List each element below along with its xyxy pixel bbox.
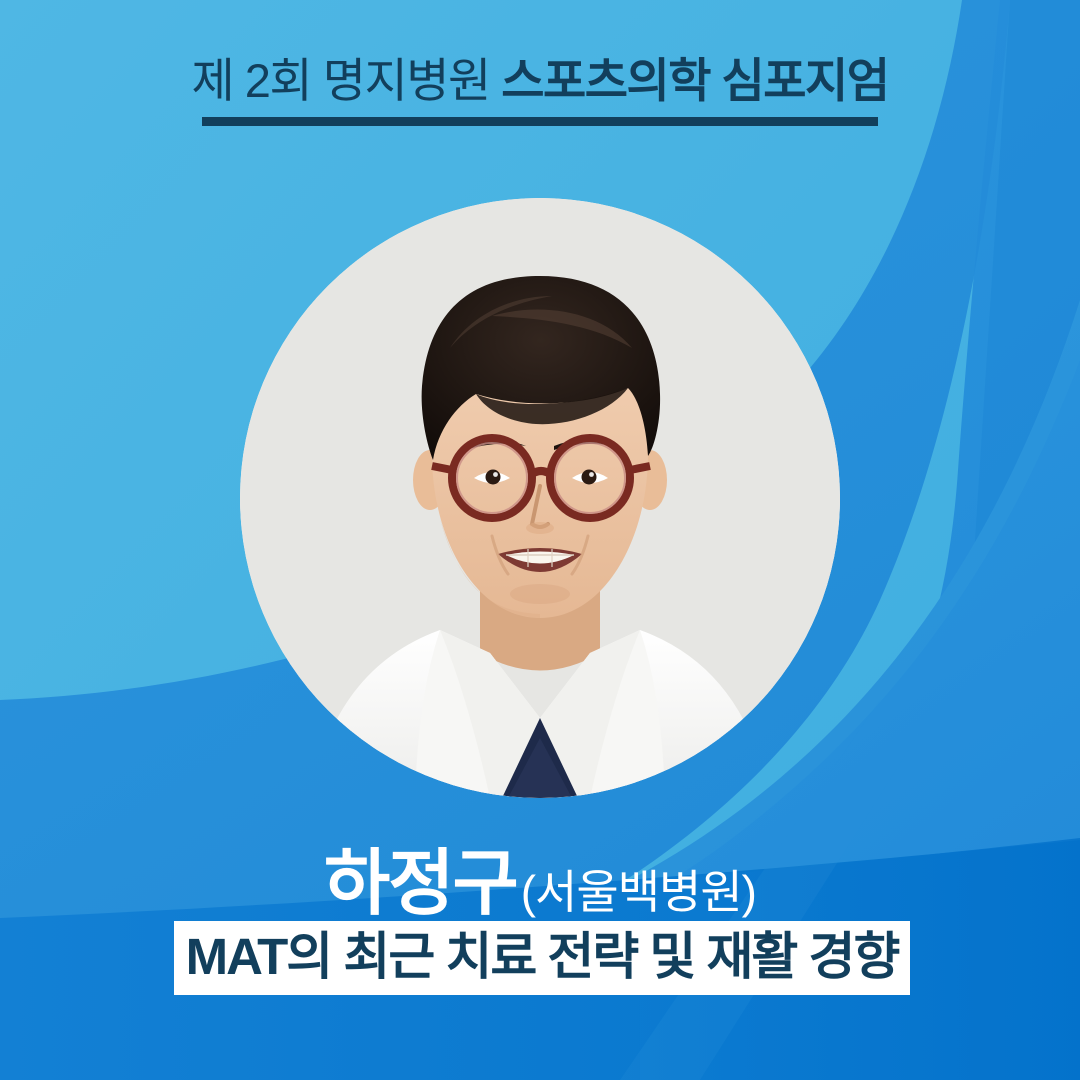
lecture-topic-bar: MAT의 최근 치료 전략 및 재활 경향 — [174, 921, 910, 995]
speaker-affiliation: (서울백병원) — [521, 866, 756, 918]
speaker-portrait — [240, 198, 840, 798]
poster-header: 제 2회 명지병원 스포츠의학 심포지엄 — [0, 52, 1080, 126]
title-underline-rule — [202, 117, 878, 126]
page-title: 제 2회 명지병원 스포츠의학 심포지엄 — [0, 52, 1080, 110]
page-title-emphasis: 스포츠의학 심포지엄 — [501, 54, 888, 107]
lecture-topic-title: MAT의 최근 치료 전략 및 재활 경향 — [186, 931, 899, 982]
speaker-name: 하정구 — [324, 844, 517, 924]
page-title-prefix: 제 2회 명지병원 — [192, 54, 502, 107]
symposium-poster: 제 2회 명지병원 스포츠의학 심포지엄 — [0, 0, 1080, 1080]
speaker-info-line: 하정구(서울백병원) — [0, 824, 1080, 929]
